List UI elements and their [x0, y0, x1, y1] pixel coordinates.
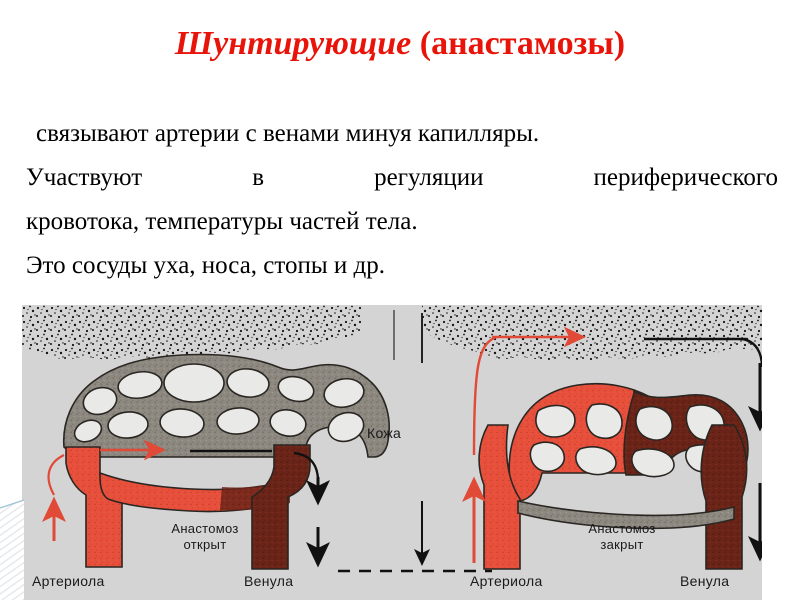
anastomosis-state-left-line1: Анастомоз	[171, 521, 238, 536]
page-title: Шунтирующие (анастамозы)	[0, 24, 800, 64]
diagram-illustration	[22, 305, 762, 600]
body-line-2-word-2: в	[252, 156, 264, 200]
body-line-3: кровотока, температуры частей тела.	[26, 200, 778, 244]
corner-hatch-icon	[0, 498, 24, 600]
body-line-1: связывают артерии с венами минуя капилля…	[26, 112, 778, 156]
anastomosis-state-right: Анастомоз закрыт	[557, 521, 687, 553]
body-line-2-word-3: регуляции	[374, 156, 483, 200]
venule-label-right: Венула	[680, 573, 729, 589]
body-line-4: Это сосуды уха, носа, стопы и др.	[26, 244, 778, 288]
anastomosis-state-left: Анастомоз открыт	[140, 521, 270, 553]
capillary-network-left	[64, 355, 389, 458]
anastomosis-diagram: Кожа Анастомоз открыт Артериола Венула А…	[22, 305, 762, 600]
corner-decoration	[0, 498, 24, 600]
title-rest: (анастамозы)	[411, 25, 625, 62]
body-line-2-word-4: периферического	[594, 156, 778, 200]
slide-canvas: Шунтирующие (анастамозы) связывают артер…	[0, 0, 800, 600]
venule-label-left: Венула	[244, 573, 293, 589]
anastomosis-state-right-line2: закрыт	[600, 537, 643, 552]
arteriole-label-right: Артериола	[470, 573, 543, 589]
arteriole-label-left: Артериола	[32, 573, 105, 589]
anastomosis-state-right-line1: Анастомоз	[588, 521, 655, 536]
title-emphasis: Шунтирующие	[175, 25, 411, 62]
body-paragraph: связывают артерии с венами минуя капилля…	[26, 112, 778, 288]
body-line-2-word-1: Участвуют	[26, 156, 142, 200]
body-line-2: Участвуют в регуляции периферического	[26, 156, 778, 200]
skin-label: Кожа	[367, 425, 401, 441]
anastomosis-state-left-line2: открыт	[184, 537, 227, 552]
venule-right	[701, 425, 746, 569]
